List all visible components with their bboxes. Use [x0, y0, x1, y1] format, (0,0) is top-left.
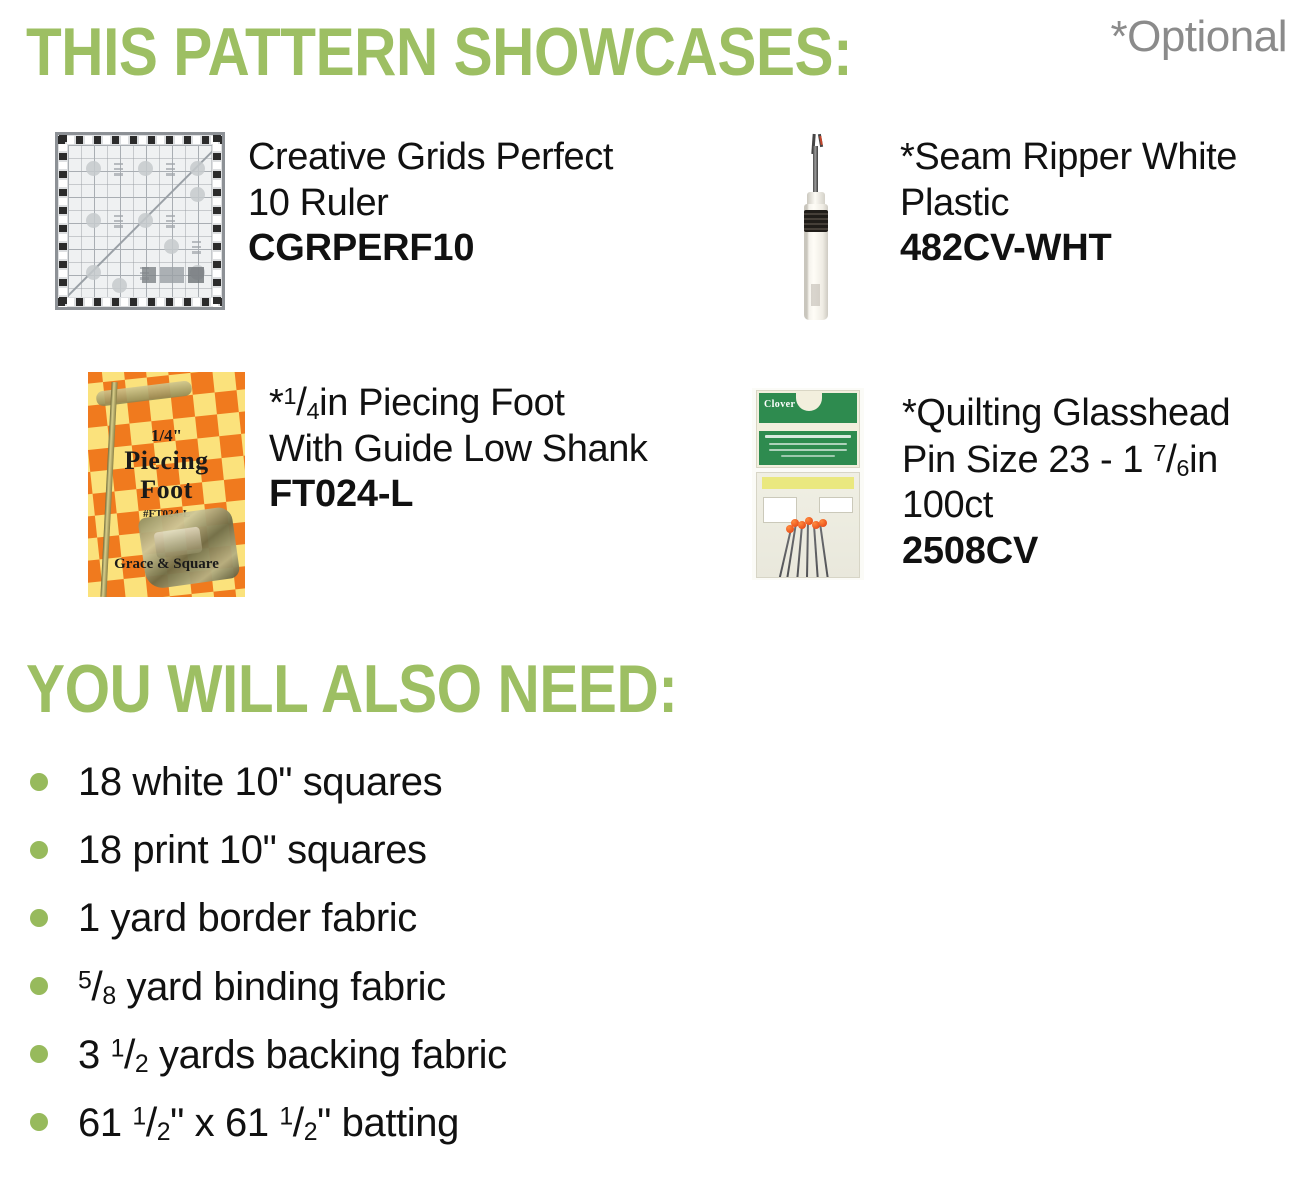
- product-name-line1: *Quilting Glasshead: [902, 391, 1230, 437]
- list-item: 5/8 yard binding fabric: [30, 952, 810, 1020]
- list-item: 18 white 10" squares: [30, 748, 810, 816]
- list-item: 1 yard border fabric: [30, 884, 810, 952]
- product-name-line3: 100ct: [902, 483, 1230, 529]
- product-info-piecing-foot: *1/4in Piecing Foot With Guide Low Shank…: [269, 380, 648, 518]
- list-item: 61 1/2" x 61 1/2" batting: [30, 1088, 810, 1156]
- product-name-line1: Creative Grids Perfect: [248, 135, 613, 181]
- product-sku: CGRPERF10: [248, 226, 613, 272]
- seam-ripper-icon: [760, 132, 870, 320]
- bullet-dot-icon: [30, 841, 48, 859]
- package-art-foot: Foot: [88, 475, 245, 505]
- product-sku: 482CV-WHT: [900, 226, 1237, 272]
- bullet-dot-icon: [30, 1045, 48, 1063]
- optional-legend: *Optional: [1110, 12, 1287, 62]
- page-title-also-need: YOU WILL ALSO NEED:: [26, 655, 677, 723]
- product-item-seam-ripper: *Seam Ripper White Plastic 482CV-WHT: [760, 132, 1237, 320]
- product-item-piecing-foot: 1/4" Piecing Foot #FT024-L Grace & Squar…: [88, 372, 648, 597]
- piecing-foot-package-icon: 1/4" Piecing Foot #FT024-L Grace & Squar…: [88, 372, 245, 597]
- glasshead-pins-package-icon: Clover: [752, 388, 864, 580]
- product-name-line2: Pin Size 23 - 1 7/6in: [902, 437, 1230, 484]
- list-item-label: 1 yard border fabric: [78, 896, 417, 941]
- product-name-line1: *1/4in Piecing Foot: [269, 380, 648, 427]
- materials-list: 18 white 10" squares 18 print 10" square…: [30, 748, 810, 1156]
- product-sku: FT024-L: [269, 472, 648, 518]
- product-name-line2: 10 Ruler: [248, 181, 613, 227]
- product-info-seam-ripper: *Seam Ripper White Plastic 482CV-WHT: [900, 135, 1237, 272]
- product-item-ruler: Creative Grids Perfect 10 Ruler CGRPERF1…: [55, 132, 613, 310]
- package-art-brand: Grace & Square: [88, 556, 245, 573]
- quilting-ruler-icon: [55, 132, 225, 310]
- list-item-label: 61 1/2" x 61 1/2" batting: [78, 1099, 459, 1146]
- list-item-label: 18 print 10" squares: [78, 828, 427, 873]
- package-art-piecing: Piecing: [88, 446, 245, 476]
- list-item-label: 18 white 10" squares: [78, 760, 442, 805]
- product-item-glasshead-pins: Clover: [752, 388, 1230, 580]
- bullet-dot-icon: [30, 1113, 48, 1131]
- product-name-line2: Plastic: [900, 181, 1237, 227]
- package-art-brand: Clover: [764, 399, 795, 410]
- product-info-ruler: Creative Grids Perfect 10 Ruler CGRPERF1…: [248, 135, 613, 272]
- list-item: 18 print 10" squares: [30, 816, 810, 884]
- product-name-line1: *Seam Ripper White: [900, 135, 1237, 181]
- page-title-showcases: THIS PATTERN SHOWCASES:: [26, 18, 852, 86]
- bullet-dot-icon: [30, 977, 48, 995]
- list-item: 3 1/2 yards backing fabric: [30, 1020, 810, 1088]
- list-item-label: 5/8 yard binding fabric: [78, 963, 446, 1010]
- package-art-quarter: 1/4": [88, 426, 245, 446]
- product-name-line2: With Guide Low Shank: [269, 427, 648, 473]
- product-info-glasshead-pins: *Quilting Glasshead Pin Size 23 - 1 7/6i…: [902, 391, 1230, 574]
- list-item-label: 3 1/2 yards backing fabric: [78, 1031, 507, 1078]
- product-sku: 2508CV: [902, 529, 1230, 575]
- bullet-dot-icon: [30, 773, 48, 791]
- bullet-dot-icon: [30, 909, 48, 927]
